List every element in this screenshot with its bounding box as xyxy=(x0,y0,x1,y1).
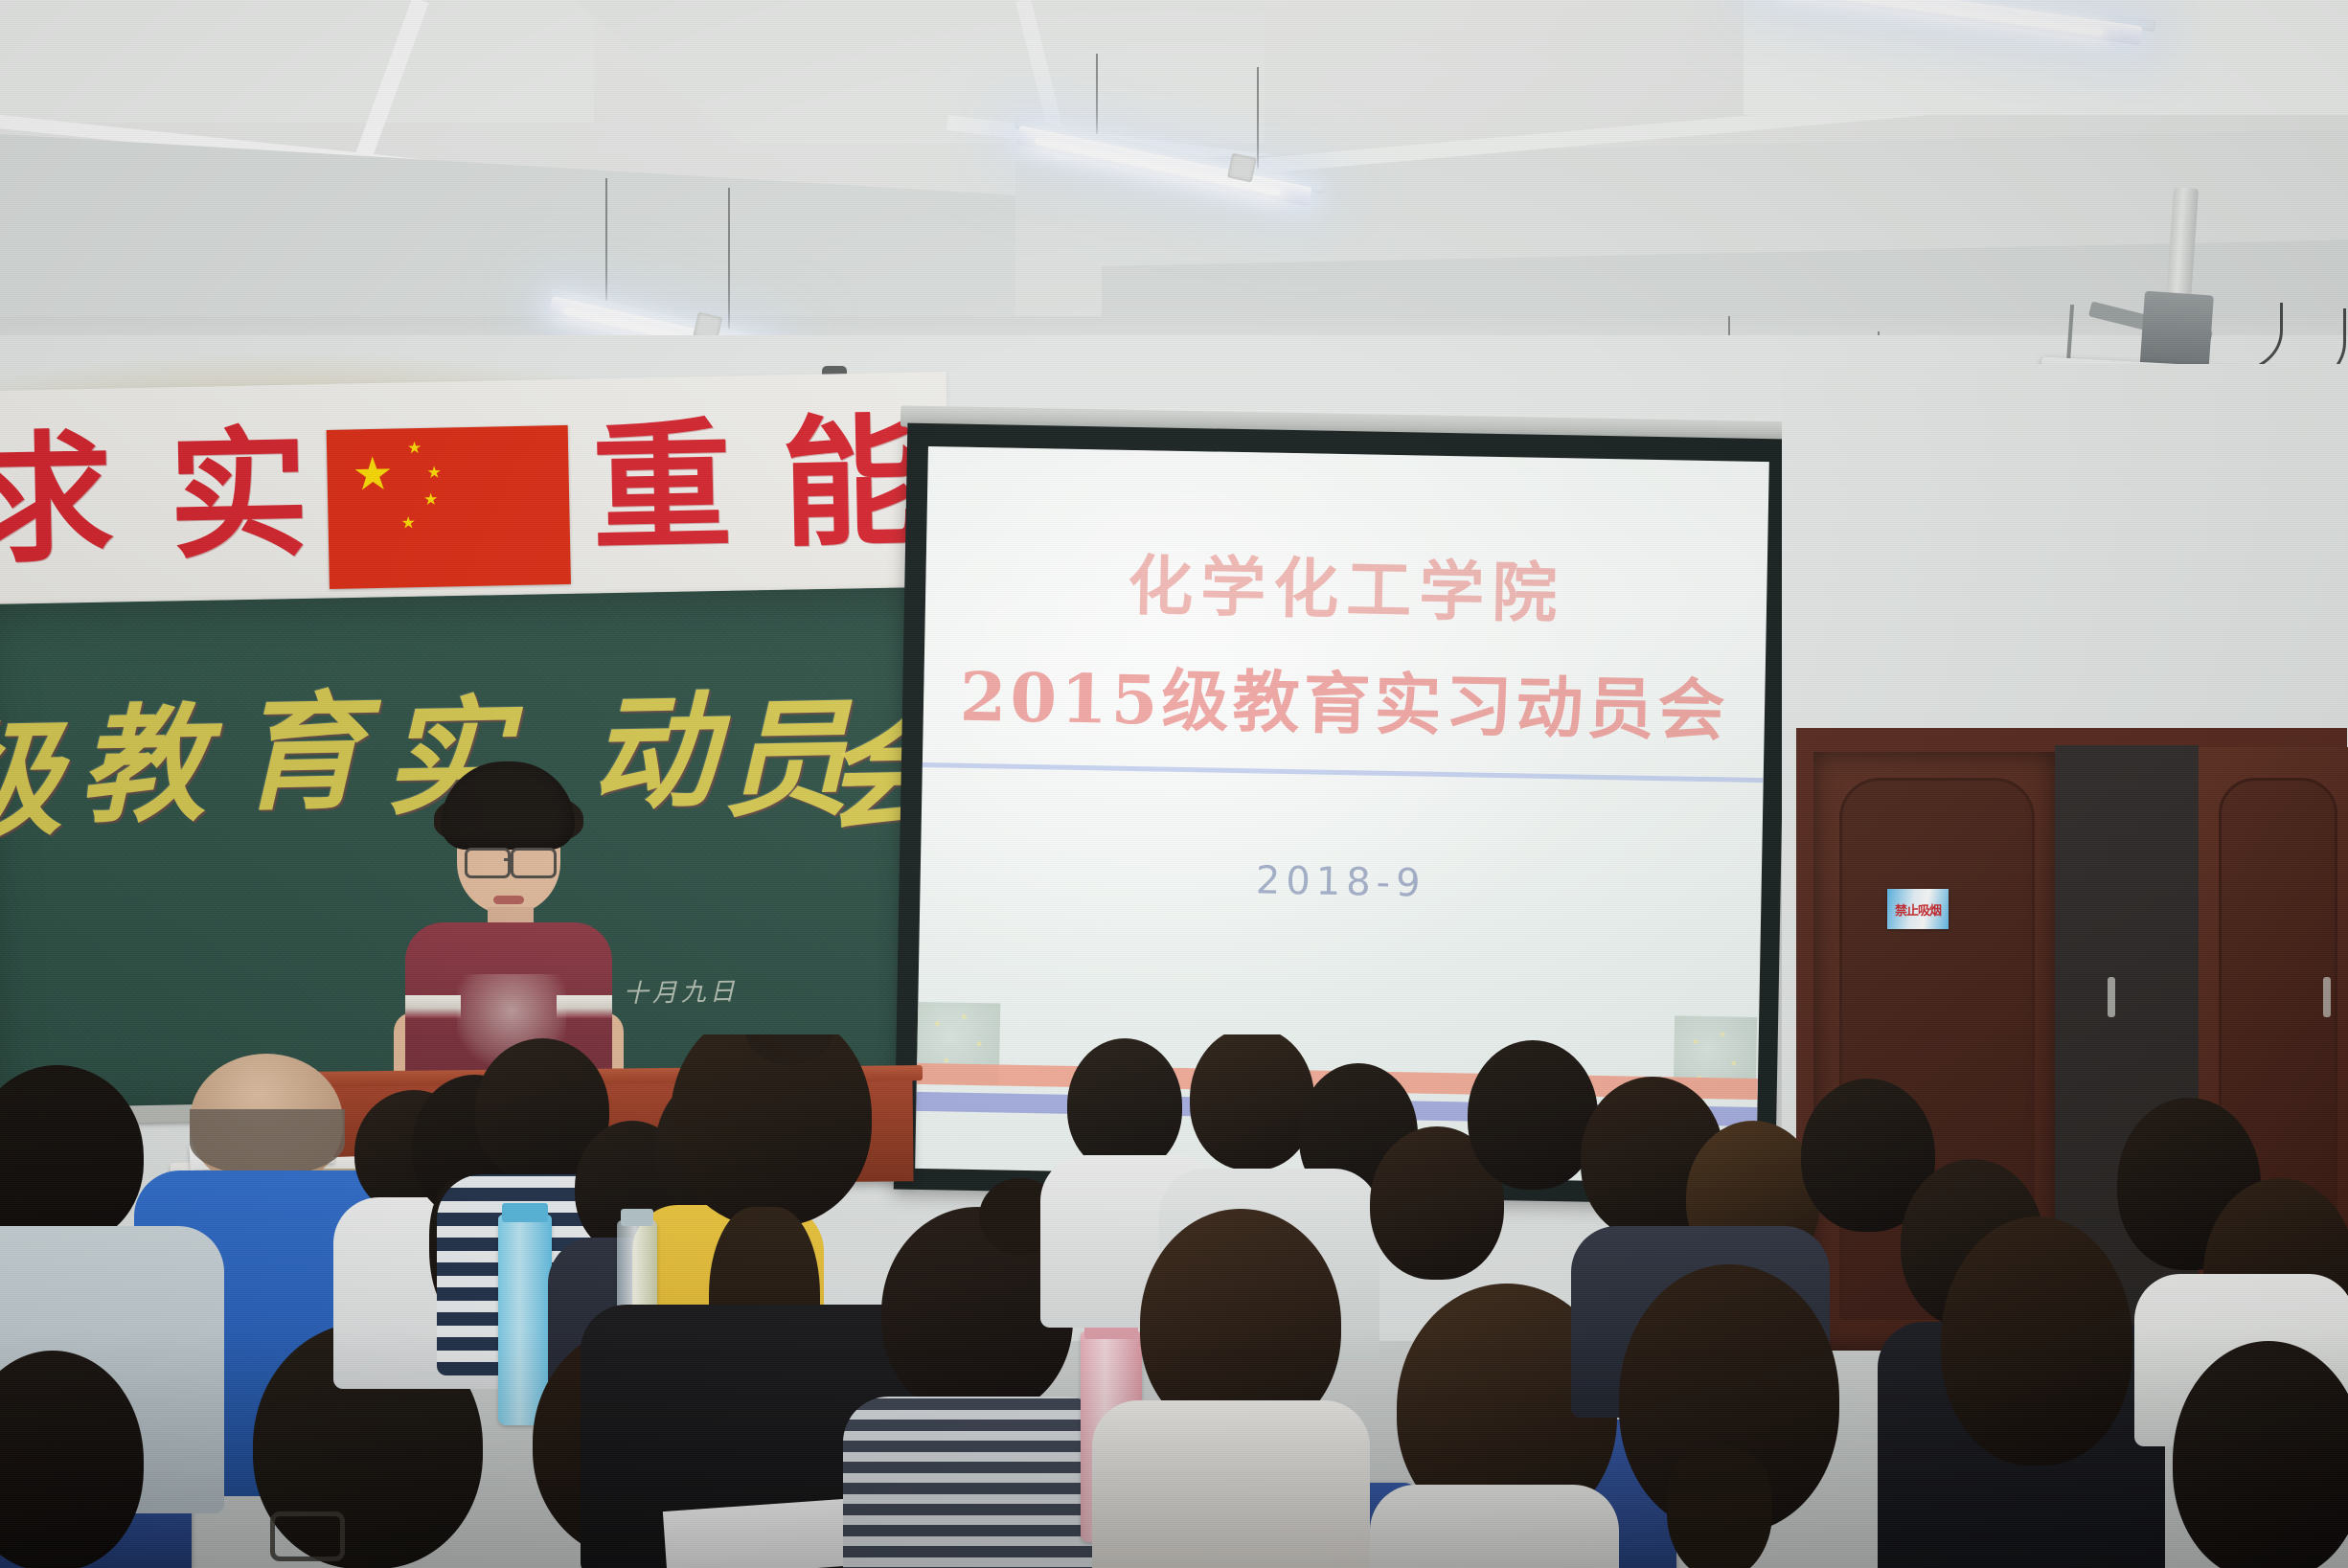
speaker-mouth xyxy=(493,896,524,904)
slide-title-line1: 化学化工学院 xyxy=(925,529,1768,639)
motto-banner: 求 实 ★ ★ ★ ★ ★ 重 能 xyxy=(0,372,950,613)
china-flag-icon: ★ ★ ★ ★ ★ xyxy=(327,425,571,589)
bottle-cap xyxy=(621,1209,653,1226)
bottle-cap xyxy=(502,1203,548,1222)
speaker-sleeve-stripe xyxy=(405,995,461,1018)
audience-head xyxy=(0,1065,144,1247)
audience-torso-white xyxy=(1370,1485,1619,1568)
audience-head xyxy=(671,1034,872,1226)
audience-glasses xyxy=(270,1511,345,1561)
banner-char-2: 实 xyxy=(168,424,310,567)
audience-torso-floral xyxy=(1092,1400,1370,1568)
banner-char-1: 求 xyxy=(0,428,115,571)
audience-head xyxy=(1468,1040,1598,1190)
chalk-char-3: 育 xyxy=(237,690,365,818)
speaker-hair xyxy=(441,761,575,850)
audience-head xyxy=(1941,1216,2132,1466)
audience-ponytail xyxy=(1667,1446,1772,1568)
light-wire xyxy=(728,188,730,331)
speaker-glasses xyxy=(511,848,557,878)
door-handle[interactable] xyxy=(2323,977,2331,1017)
classroom-photo: 求 实 ★ ★ ★ ★ ★ 重 能 级 教 育 实 动 员 会 十月九日 xyxy=(0,0,2348,1568)
door-handle[interactable] xyxy=(2108,977,2115,1017)
audience-head xyxy=(1067,1038,1182,1172)
light-wire xyxy=(1257,67,1259,172)
slide-title-line2: 2015级教育实习动员会 xyxy=(923,643,1766,755)
speaker-glasses xyxy=(465,848,511,878)
banner-char-3: 重 xyxy=(590,417,733,559)
audience-head xyxy=(1190,1034,1314,1170)
banner-char-4: 能 xyxy=(780,413,923,556)
audience-hair-fringe xyxy=(190,1109,345,1176)
door-notice-sticker: 禁止吸烟 xyxy=(1887,889,1949,929)
chalk-char-1: 级 xyxy=(0,716,63,845)
chalk-char-2: 教 xyxy=(78,702,206,830)
audience-torso-striped xyxy=(843,1397,1111,1568)
speaker-glasses-bridge xyxy=(504,858,513,861)
audience-area xyxy=(0,1034,2348,1568)
door-notice-text: 禁止吸烟 xyxy=(1887,889,1949,929)
